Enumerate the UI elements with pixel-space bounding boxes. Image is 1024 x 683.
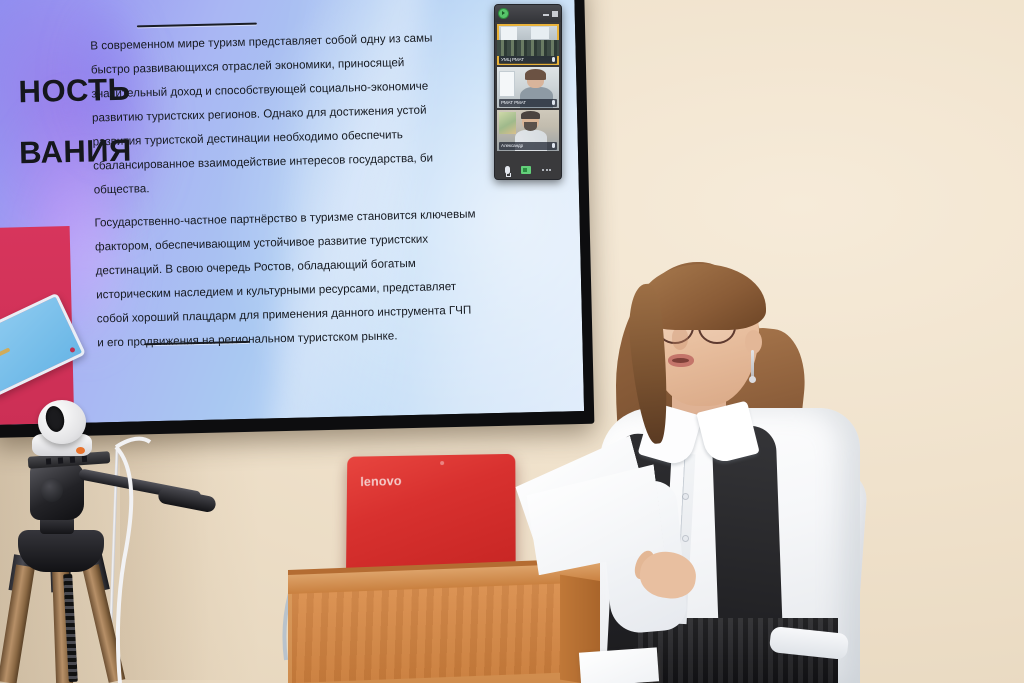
participant-hair — [525, 69, 546, 80]
tablet-button — [69, 347, 76, 354]
maximize-icon[interactable] — [552, 11, 558, 17]
slide-line: значительный доход и способствующей соци… — [91, 80, 428, 101]
webcam-status-led — [76, 447, 85, 454]
participant-mic-icon — [552, 57, 555, 62]
participant-background-map — [499, 112, 516, 134]
slide-line: В современном мире туризм представляет с… — [90, 31, 432, 52]
participant-tiles: УМЦ РМАТ РМАТ РМАТ — [495, 22, 561, 153]
slide-body-text: В современном мире туризм представляет с… — [90, 24, 528, 364]
presenter — [520, 258, 880, 683]
participant-name-badge: Александр — [499, 142, 557, 150]
slide-line: общества. — [94, 182, 150, 196]
video-call-window[interactable]: УМЦ РМАТ РМАТ РМАТ — [494, 4, 562, 180]
video-call-titlebar[interactable] — [495, 5, 561, 22]
plate-notch — [70, 457, 75, 463]
camera-tripod — [8, 398, 248, 683]
minimize-icon[interactable] — [543, 14, 549, 16]
participant-hair — [521, 111, 540, 119]
more-options-icon[interactable] — [542, 169, 551, 171]
video-call-app-icon — [498, 8, 509, 19]
presenter-mouth — [668, 354, 694, 367]
participant-tile[interactable]: УМЦ РМАТ — [497, 24, 559, 65]
shirt-button — [683, 494, 688, 499]
participant-beard — [524, 122, 537, 131]
presenter-earring — [751, 350, 754, 378]
slide-line: быстро развивающихся отраслей экономики,… — [91, 56, 405, 76]
presentation-room-photo: НОСТЬ ВАНИЯ В современном мире туризм пр… — [0, 0, 1024, 683]
held-paper — [579, 647, 659, 683]
participant-name: Александр — [501, 143, 523, 148]
slide-line: развития туристской дестинации необходим… — [92, 128, 403, 148]
laptop-lid: lenovo — [346, 454, 516, 577]
room-window — [531, 27, 549, 39]
slide-line: дестинаций. В свою очередь Ростов, облад… — [95, 257, 415, 278]
participant-mic-icon — [552, 100, 555, 105]
slide-line: сбалансированное взаимодействие интересо… — [93, 151, 433, 172]
participant-monitor — [499, 71, 515, 97]
participant-name-badge: РМАТ РМАТ — [499, 99, 557, 107]
plate-notch — [58, 457, 63, 463]
room-window — [501, 27, 517, 40]
participant-mic-icon — [552, 143, 555, 148]
slide-line: собой хороший плацдарм для применения да… — [97, 303, 472, 325]
laptop-brand-logo: lenovo — [360, 473, 402, 489]
tripod-leg-spreader — [18, 530, 104, 572]
dot — [549, 169, 551, 171]
dot — [542, 169, 544, 171]
microphone-icon[interactable] — [505, 166, 510, 174]
presenter-nose — [672, 328, 688, 350]
slide-paragraph-2: Государственно-частное партнёрство в тур… — [94, 201, 527, 355]
participant-name: РМАТ РМАТ — [501, 100, 526, 105]
plate-notch — [82, 456, 87, 462]
slide-paragraph-1: В современном мире туризм представляет с… — [90, 24, 524, 202]
participant-name-badge: УМЦ РМАТ — [499, 56, 557, 64]
slide-line: фактором, обеспечивающим устойчивое разв… — [95, 232, 428, 253]
dot — [546, 169, 548, 171]
window-controls[interactable] — [543, 11, 558, 17]
participant-name: УМЦ РМАТ — [501, 57, 524, 62]
shirt-button — [683, 536, 688, 541]
slide-line: развитию туристских регионов. Однако для… — [92, 104, 427, 125]
slide-line: и его продвижения на региональном турист… — [97, 329, 397, 349]
slide-line: Государственно-частное партнёрство в тур… — [94, 207, 475, 229]
video-call-controls[interactable] — [495, 161, 561, 179]
plate-notch — [46, 458, 51, 464]
participant-tile[interactable]: Александр — [497, 110, 559, 151]
tablet-screen-line — [0, 347, 10, 360]
participant-tile[interactable]: РМАТ РМАТ — [497, 67, 559, 108]
screen-share-icon[interactable] — [521, 166, 531, 174]
tripod-tilt-knob[interactable] — [41, 478, 63, 502]
slide-line: историческим наследием и культурными рес… — [96, 280, 456, 301]
laptop-camera-icon — [440, 461, 444, 465]
room-audience — [497, 40, 559, 56]
